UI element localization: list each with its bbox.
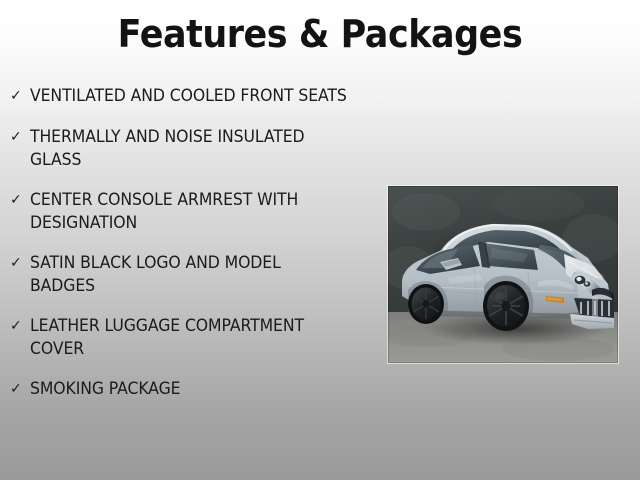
list-item-label: CENTER CONSOLE ARMREST WITH DESIGNATION: [30, 188, 347, 234]
list-item-label: THERMALLY AND NOISE INSULATED GLASS: [30, 125, 347, 171]
vehicle-photo: [388, 186, 618, 363]
list-item-label: SMOKING PACKAGE: [30, 377, 347, 400]
list-item-label: SATIN BLACK LOGO AND MODEL BADGES: [30, 251, 347, 297]
list-item: ✓ VENTILATED AND COOLED FRONT SEATS: [8, 84, 364, 108]
check-icon: ✓: [8, 188, 30, 212]
vehicle-illustration: [388, 186, 618, 363]
list-item: ✓ THERMALLY AND NOISE INSULATED GLASS: [8, 125, 364, 171]
page-title: Features & Packages: [26, 12, 615, 56]
list-item: ✓ SATIN BLACK LOGO AND MODEL BADGES: [8, 251, 364, 297]
slide-canvas: Features & Packages ✓ VENTILATED AND COO…: [0, 0, 640, 480]
list-item-label: LEATHER LUGGAGE COMPARTMENT COVER: [30, 314, 347, 360]
check-icon: ✓: [8, 377, 30, 401]
check-icon: ✓: [8, 125, 30, 149]
check-icon: ✓: [8, 84, 30, 108]
check-icon: ✓: [8, 251, 30, 275]
list-item: ✓ LEATHER LUGGAGE COMPARTMENT COVER: [8, 314, 364, 360]
check-icon: ✓: [8, 314, 30, 338]
list-item: ✓ CENTER CONSOLE ARMREST WITH DESIGNATIO…: [8, 188, 364, 234]
list-item: ✓ SMOKING PACKAGE: [8, 377, 364, 401]
features-list: ✓ VENTILATED AND COOLED FRONT SEATS ✓ TH…: [8, 84, 364, 418]
list-item-label: VENTILATED AND COOLED FRONT SEATS: [30, 84, 347, 107]
